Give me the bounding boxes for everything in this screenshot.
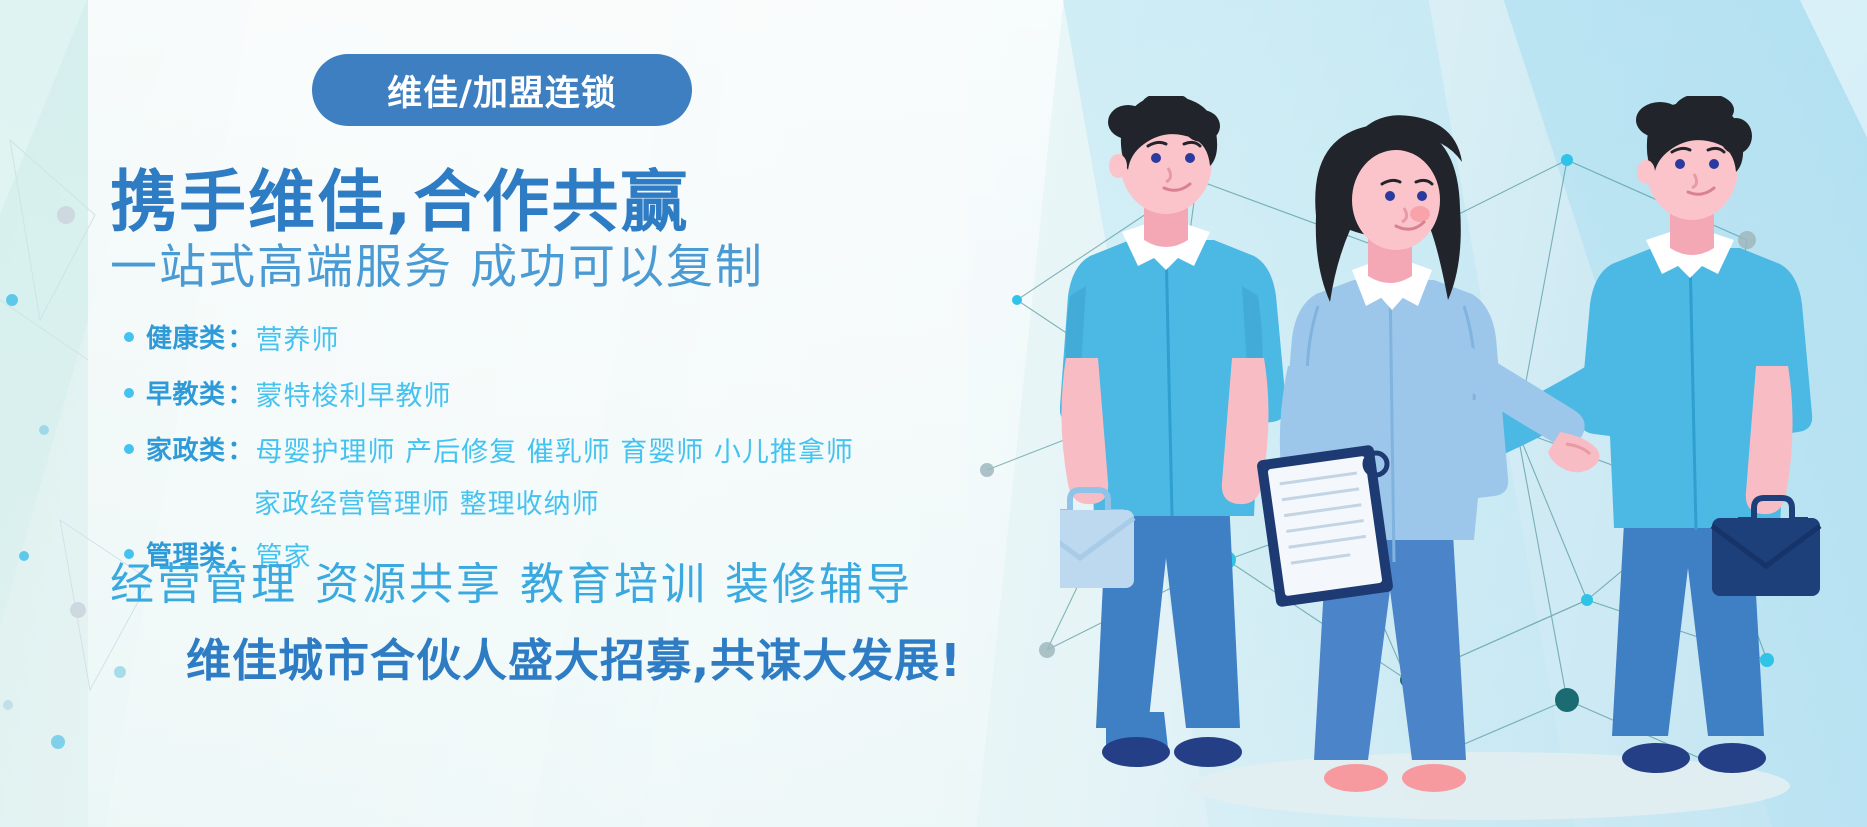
clipboard — [1256, 445, 1393, 608]
category-separator: ： — [228, 374, 254, 411]
category-separator: ： — [228, 430, 254, 467]
category-separator: ： — [228, 318, 254, 355]
figure-center-woman — [1256, 115, 1599, 792]
feature-line: 经营管理 资源共享 教育培训 装修辅导 — [110, 548, 913, 612]
category-values: 营养师 — [256, 318, 340, 357]
list-item: 家政类 ： 母婴护理师 产后修复 催乳师 育婴师 小儿推拿师 — [124, 430, 954, 469]
bullet-dot-icon — [124, 444, 134, 454]
category-values: 母婴护理师 产后修复 催乳师 育婴师 小儿推拿师 — [256, 430, 854, 469]
category-values: 蒙特梭利早教师 — [256, 374, 452, 413]
category-values-line2: 家政经营管理师 整理收纳师 — [254, 482, 600, 521]
category-label: 早教类 — [146, 374, 226, 411]
brand-badge[interactable]: 维佳/加盟连锁 — [312, 54, 692, 126]
bullet-dot-icon — [124, 332, 134, 342]
call-to-action-text: 维佳城市合伙人盛大招募,共谋大发展! — [186, 624, 962, 689]
list-item: 早教类 ： 蒙特梭利早教师 — [124, 374, 954, 413]
page-subtitle: 一站式高端服务 成功可以复制 — [110, 228, 764, 297]
banner-root: 维佳/加盟连锁 携手维佳,合作共赢 一站式高端服务 成功可以复制 健康类 ： 营… — [0, 0, 1867, 827]
brand-badge-label: 维佳/加盟连锁 — [387, 65, 617, 116]
category-label: 健康类 — [146, 318, 226, 355]
people-illustration — [1060, 96, 1867, 827]
figure-left-man — [1060, 96, 1286, 767]
list-item-continuation: 家政经营管理师 整理收纳师 — [124, 482, 954, 521]
category-label: 家政类 — [146, 430, 226, 467]
bullet-dot-icon — [124, 388, 134, 398]
list-item: 健康类 ： 营养师 — [124, 318, 954, 357]
